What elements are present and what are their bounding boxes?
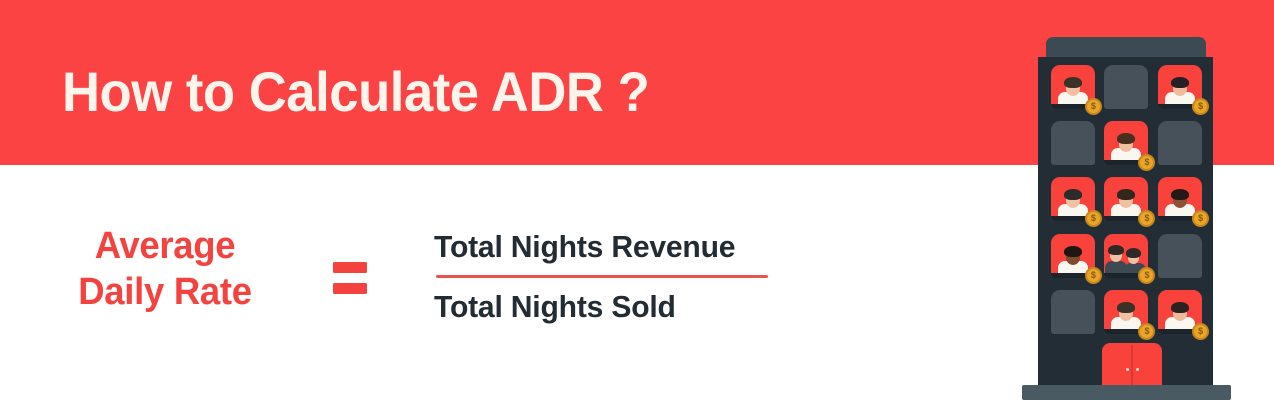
building-window: $	[1051, 65, 1095, 111]
building-window: $	[1104, 121, 1148, 167]
formula-block: Average Daily Rate Total Nights Revenue …	[0, 165, 1010, 400]
equals-icon	[333, 262, 367, 294]
dollar-coin-icon: $	[1085, 98, 1102, 115]
building-base	[1022, 385, 1231, 400]
building-window	[1051, 121, 1095, 167]
window-pane	[1051, 121, 1095, 165]
building-window: $	[1104, 234, 1148, 280]
building-window: $	[1051, 234, 1095, 280]
dollar-coin-icon: $	[1085, 267, 1102, 284]
building-window	[1158, 234, 1202, 280]
fraction: Total Nights Revenue Total Nights Sold	[434, 227, 774, 327]
door-knob-left	[1126, 368, 1129, 371]
equals-bar-top	[333, 262, 367, 273]
dollar-coin-icon: $	[1085, 210, 1102, 227]
dollar-coin-icon: $	[1138, 323, 1155, 340]
building-window-grid: $$$$$$$$$$	[1049, 63, 1204, 338]
infographic-canvas: How to Calculate ADR ? Average Daily Rat…	[0, 0, 1274, 400]
page-title: How to Calculate ADR ?	[62, 58, 649, 126]
adr-label: Average Daily Rate	[7, 223, 324, 315]
fraction-bar	[436, 275, 768, 278]
adr-label-line2: Daily Rate	[7, 269, 324, 315]
fraction-denominator: Total Nights Sold	[434, 287, 764, 327]
building-window: $	[1104, 177, 1148, 223]
building-door	[1102, 343, 1162, 388]
fraction-numerator: Total Nights Revenue	[434, 227, 764, 267]
dollar-coin-icon: $	[1138, 267, 1155, 284]
building-window: $	[1051, 177, 1095, 223]
building-window: $	[1104, 290, 1148, 336]
door-knob-right	[1136, 368, 1139, 371]
window-pane	[1051, 290, 1095, 334]
dollar-coin-icon: $	[1192, 323, 1209, 340]
building-window: $	[1158, 65, 1202, 111]
dollar-coin-icon: $	[1138, 210, 1155, 227]
equals-bar-bottom	[333, 283, 367, 294]
building-window	[1158, 121, 1202, 167]
dollar-coin-icon: $	[1138, 154, 1155, 171]
window-pane	[1158, 234, 1202, 278]
building-window	[1104, 65, 1148, 111]
window-pane	[1104, 65, 1148, 109]
adr-label-line1: Average	[7, 223, 324, 269]
building-window	[1051, 290, 1095, 336]
door-divider	[1131, 345, 1133, 388]
window-pane	[1158, 121, 1202, 165]
building-window: $	[1158, 177, 1202, 223]
building-window: $	[1158, 290, 1202, 336]
hotel-building-illustration: $$$$$$$$$$	[1014, 0, 1254, 400]
